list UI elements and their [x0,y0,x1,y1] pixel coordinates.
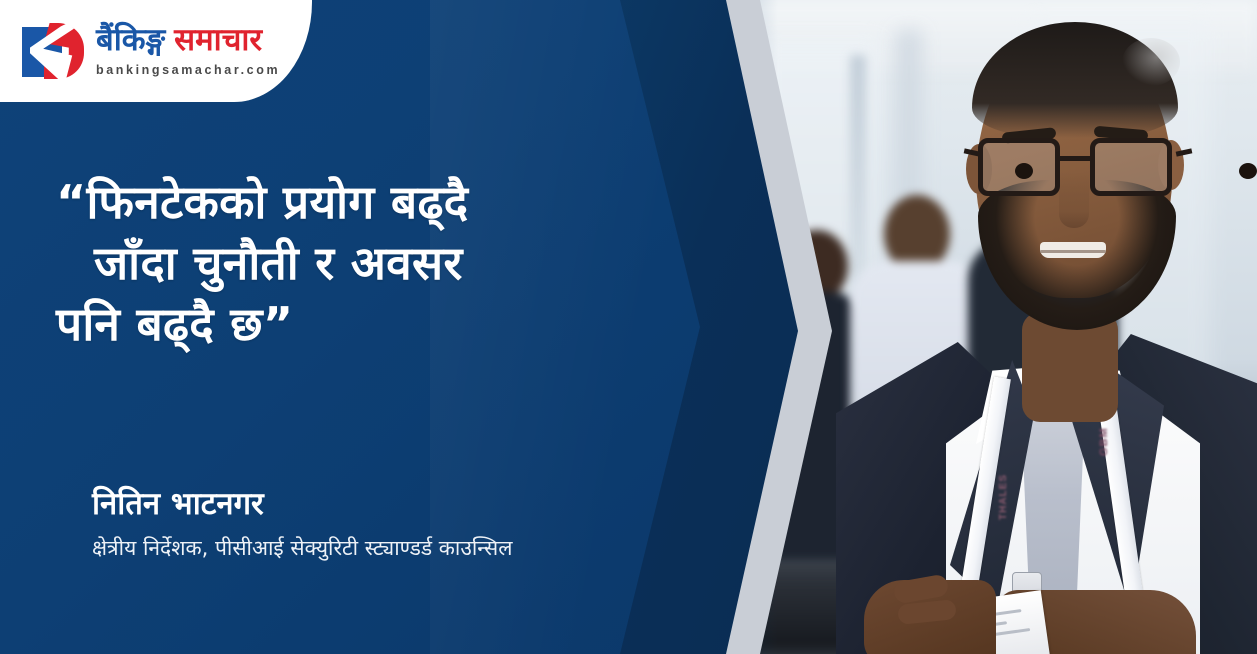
brand-name: बैंकिङ्ग समाचार [96,25,280,56]
brand-name-samachar: समाचार [174,25,262,56]
speaker-figure: GBM THALES [826,12,1257,654]
lanyard-label-gbm: GBM [1098,427,1110,456]
quote-line-2: जाँदा चुनौती र अवसर [56,233,716,294]
brand-website: bankingsamachar.com [96,63,280,77]
promo-quote-card: GBM THALES [0,0,1257,654]
eye-right [1239,163,1257,179]
hair-grey-highlight [1122,38,1180,86]
quote-line-3: पनि बढ्दै छ” [56,294,716,355]
attribution-block: नितिन भाटनगर क्षेत्रीय निर्देशक, पीसीआई … [92,486,513,561]
brand-wordmark: बैंकिङ्ग समाचार bankingsamachar.com [96,25,280,77]
mouth-line [1040,250,1106,253]
speaker-role: क्षेत्रीय निर्देशक, पीसीआई सेक्युरिटी स्… [92,535,513,561]
lens-right [1090,138,1172,196]
speaker-name: नितिन भाटनगर [92,486,513,523]
logo-mark-icon [22,23,84,79]
eyeglasses [978,138,1178,200]
brand-logo[interactable]: बैंकिङ्ग समाचार bankingsamachar.com [0,0,312,102]
brand-name-banking: बैंकिङ्ग [96,25,165,56]
eye-left [1015,163,1033,179]
quote-line-1: “फिनटेकको प्रयोग बढ्दै [56,172,716,233]
glasses-bridge [1060,156,1090,161]
quote-block: “फिनटेकको प्रयोग बढ्दै जाँदा चुनौती र अव… [56,172,716,356]
lanyard-label-thales: THALES [998,474,1009,520]
lens-left [978,138,1060,196]
